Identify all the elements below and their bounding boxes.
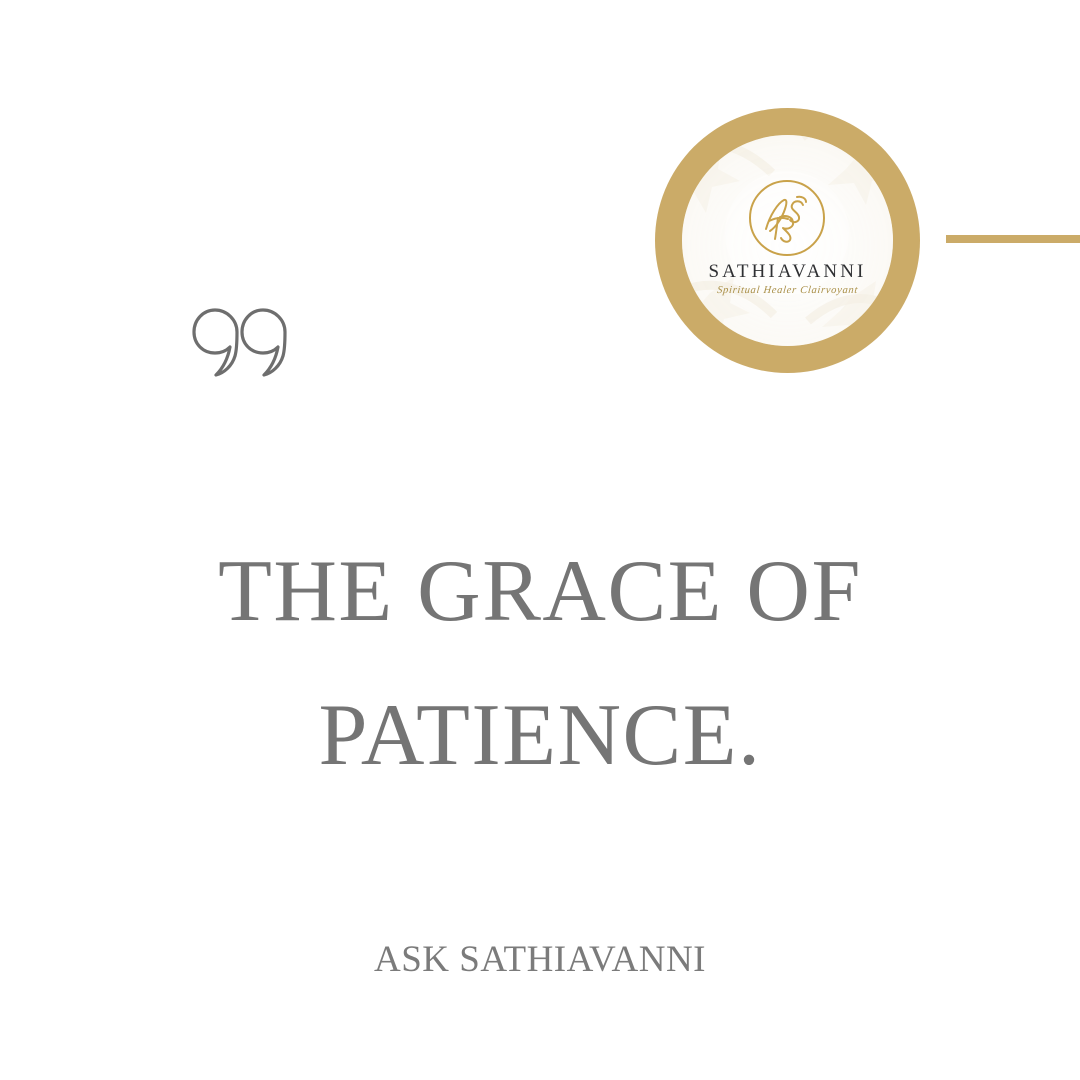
quote-line-1: THE GRACE OF	[0, 520, 1080, 664]
gold-rule-divider	[946, 235, 1080, 243]
quote-headline: THE GRACE OF PATIENCE.	[0, 520, 1080, 808]
brand-logo-badge[interactable]: SATHIAVANNI Spiritual Healer Clairvoyant	[655, 108, 920, 373]
as-r-monogram-icon	[749, 180, 825, 256]
quote-card-canvas: SATHIAVANNI Spiritual Healer Clairvoyant…	[0, 0, 1080, 1080]
brand-tagline: Spiritual Healer Clairvoyant	[716, 286, 858, 297]
brand-logo-lockup: SATHIAVANNI Spiritual Healer Clairvoyant	[709, 180, 867, 297]
footer-brand-handle: ASK SATHIAVANNI	[0, 938, 1080, 982]
brand-logo-inner-disc: SATHIAVANNI Spiritual Healer Clairvoyant	[682, 135, 893, 346]
brand-wordmark: SATHIAVANNI	[709, 262, 867, 281]
double-quote-icon	[190, 306, 288, 382]
quote-line-2: PATIENCE.	[0, 664, 1080, 808]
